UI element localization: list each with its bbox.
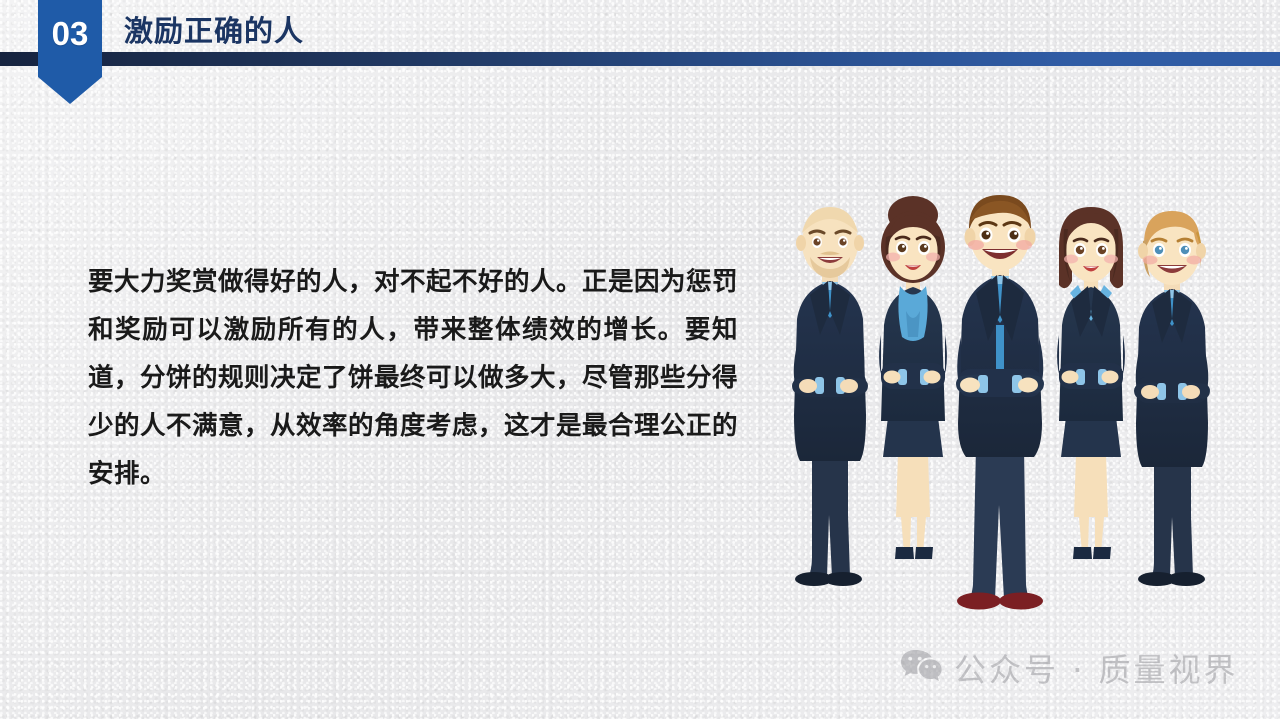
wechat-icon [900,649,942,688]
business-team-illustration [780,185,1250,615]
header-accent-bar [0,52,1280,66]
slide-canvas: 03 激励正确的人 要大力奖赏做得好的人，对不起不好的人。正是因为惩罚和奖励可以… [0,0,1280,719]
person-bald-bearded-man [791,207,869,586]
person-bun-hair-woman [879,196,947,559]
body-paragraph: 要大力奖赏做得好的人，对不起不好的人。正是因为惩罚和奖励可以激励所有的人，带来整… [88,258,738,498]
watermark-text: 公众号 · 质量视界 [954,645,1239,691]
person-center-man [955,195,1045,610]
section-number-label: 03 [38,14,102,54]
watermark: 公众号 · 质量视界 [900,645,1239,691]
person-blond-man [1133,211,1211,586]
page-title: 激励正确的人 [124,14,304,50]
person-bob-hair-woman [1057,207,1125,559]
